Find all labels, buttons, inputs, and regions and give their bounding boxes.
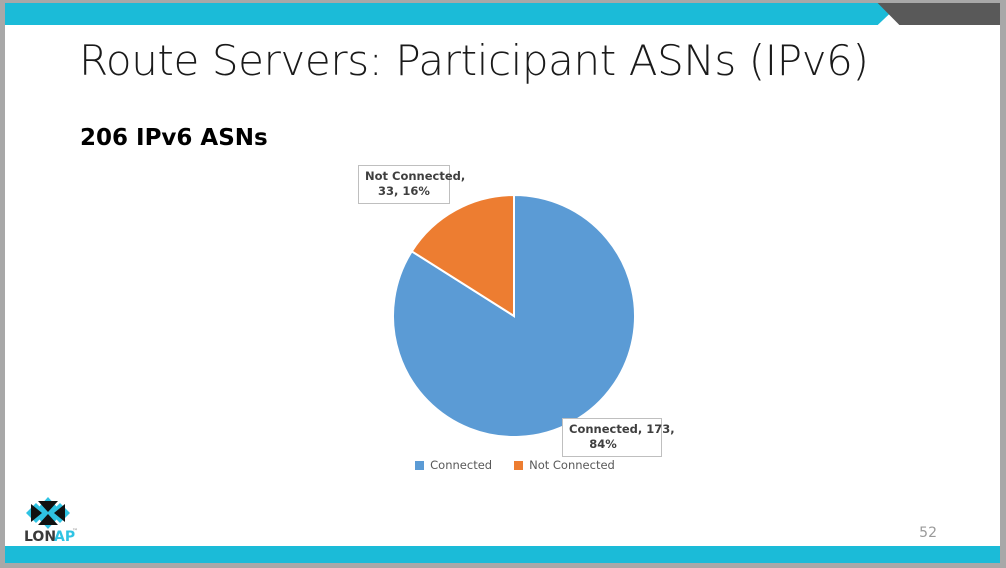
data-label-not-connected-line1: Not Connected, [365,169,465,183]
data-label-connected-line2: 84% [569,437,655,452]
legend-label-not-connected: Not Connected [529,458,615,472]
page-number: 52 [919,525,937,541]
logo-diamond-mark [26,497,70,529]
page-title: Route Servers: Participant ASNs (IPv6) [79,36,868,85]
pie-svg [391,193,637,439]
chart-legend: Connected Not Connected [335,458,695,472]
top-accent-bar [5,3,1000,25]
pie-chart: Not Connected, 33, 16% Connected, 173, 8… [335,158,695,488]
lonap-logo: LON AP ™ [15,495,81,545]
legend-swatch-not-connected [514,461,523,470]
logo-text-lon: LON [24,529,56,545]
data-label-connected-line1: Connected, 173, [569,422,655,437]
top-accent-bar-cyan [5,3,901,25]
top-accent-bar-gray [875,3,1000,25]
bottom-accent-bar [5,546,1000,563]
legend-label-connected: Connected [430,458,492,472]
legend-swatch-connected [415,461,424,470]
legend-item-connected[interactable]: Connected [415,458,492,472]
data-label-not-connected-line2: 33, 16% [365,184,443,199]
data-label-connected: Connected, 173, 84% [562,418,662,457]
pie-graphic [391,193,637,439]
legend-item-not-connected[interactable]: Not Connected [514,458,615,472]
lonap-logo-svg: LON AP ™ [15,495,81,545]
slide-canvas: Route Servers: Participant ASNs (IPv6) 2… [0,0,1006,568]
data-label-not-connected: Not Connected, 33, 16% [358,165,450,204]
subtitle-asn-count: 206 IPv6 ASNs [80,125,268,151]
logo-trademark: ™ [72,528,78,535]
